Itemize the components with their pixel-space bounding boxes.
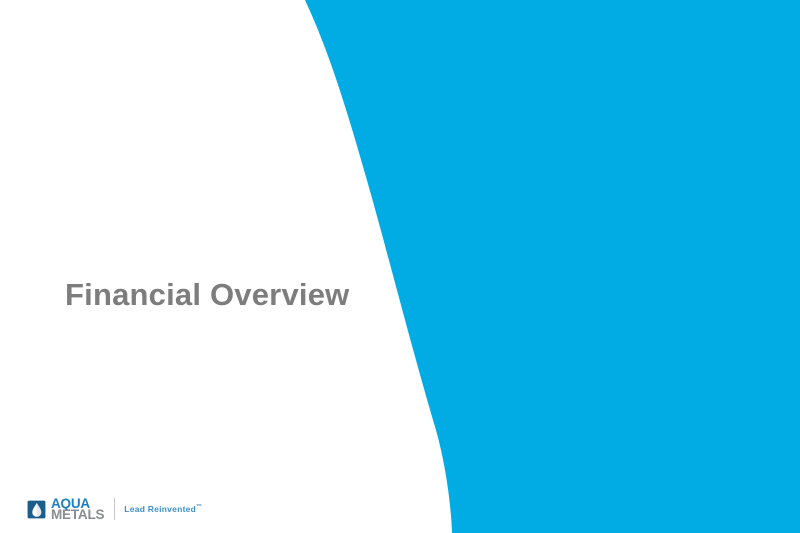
page-title: Financial Overview	[65, 278, 349, 312]
brand-tagline: Lead Reinvented™	[124, 504, 202, 514]
brand-tagline-text: Lead Reinvented	[124, 504, 196, 514]
logo-divider	[114, 498, 115, 520]
title-slide: Financial Overview AQUA METALS Lead Rein…	[0, 0, 800, 533]
water-droplet-icon	[26, 499, 47, 520]
brand-wordmark: AQUA METALS	[51, 498, 104, 521]
brand-logo-lockup: AQUA METALS Lead Reinvented™	[26, 496, 202, 522]
trademark-symbol: ™	[196, 504, 202, 510]
brand-name-metals: METALS	[51, 509, 104, 521]
blue-curve-accent-shape	[0, 0, 800, 533]
